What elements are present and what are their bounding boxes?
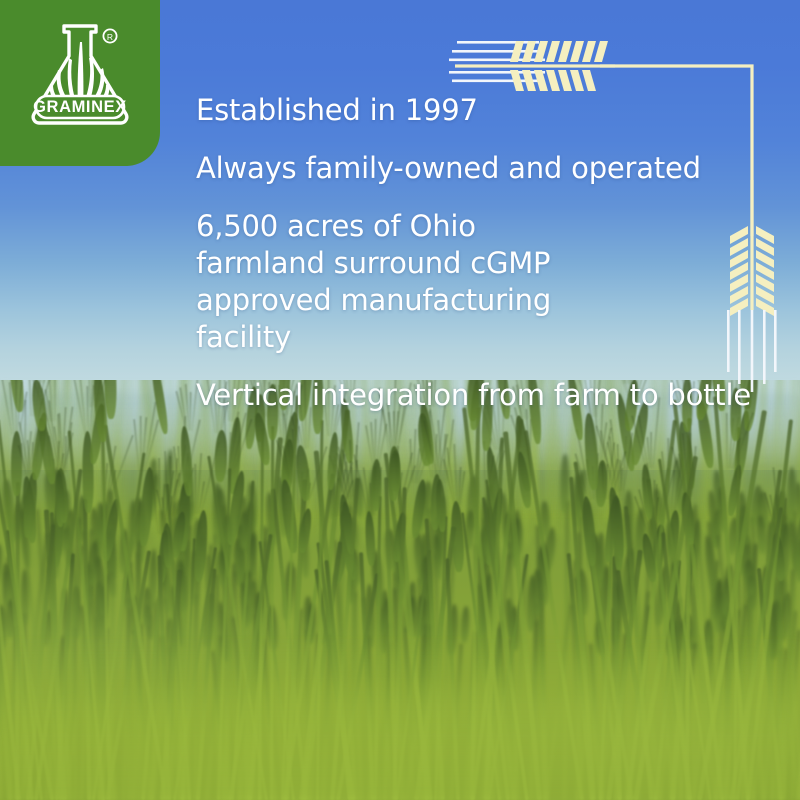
- copy-line-established: Established in 1997: [196, 92, 756, 129]
- copy-block: Established in 1997 Always family-owned …: [196, 92, 756, 414]
- brand-logo-panel[interactable]: GRAMINEX R: [0, 0, 160, 166]
- flask-with-grass-icon: GRAMINEX R: [14, 18, 146, 140]
- copy-line-vertical-integration: Vertical integration from farm to bottle: [196, 377, 756, 414]
- copy-line-family-owned: Always family-owned and operated: [196, 150, 756, 187]
- grain-stalks: [0, 380, 800, 800]
- registered-mark-icon: R: [107, 32, 113, 42]
- promo-graphic: GRAMINEX R Established in 1997 Always fa…: [0, 0, 800, 800]
- copy-line-acreage: 6,500 acres of Ohio farmland surround cG…: [196, 208, 596, 356]
- brand-wordmark: GRAMINEX: [33, 98, 127, 116]
